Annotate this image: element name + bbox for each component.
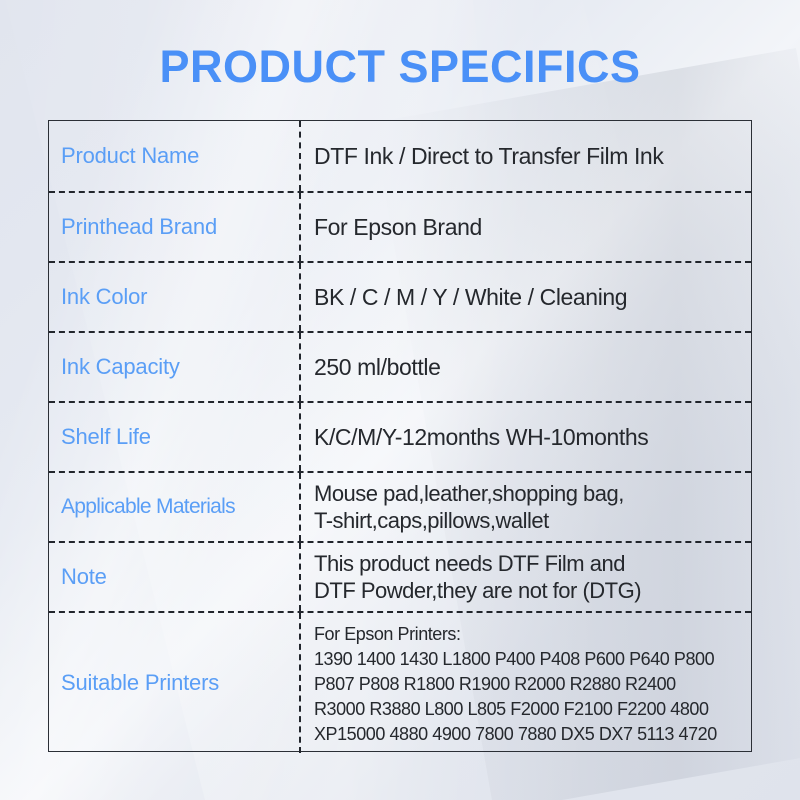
table-row: Ink Capacity 250 ml/bottle — [49, 331, 751, 401]
product-specifics-page: PRODUCT SPECIFICS Product Name DTF Ink /… — [0, 0, 800, 800]
spec-value-shelf-life: K/C/M/Y-12months WH-10months — [301, 403, 751, 471]
value-line: For Epson Printers: — [314, 622, 749, 647]
spec-label-shelf-life: Shelf Life — [49, 403, 301, 471]
spec-label-suitable-printers: Suitable Printers — [49, 613, 301, 753]
spec-value-applicable-materials: Mouse pad,leather,shopping bag, T-shirt,… — [301, 473, 751, 541]
value-line: K/C/M/Y-12months WH-10months — [314, 423, 749, 452]
spec-value-product-name: DTF Ink / Direct to Transfer Film Ink — [301, 121, 751, 191]
value-line: T-shirt,caps,pillows,wallet — [314, 507, 749, 534]
value-line: DTF Powder,they are not for (DTG) — [314, 577, 749, 604]
spec-label-applicable-materials: Applicable Materials — [49, 473, 301, 541]
value-line: XP15000 4880 4900 7800 7880 DX5 DX7 5113… — [314, 722, 749, 747]
specifications-table: Product Name DTF Ink / Direct to Transfe… — [48, 120, 752, 752]
table-row: Ink Color BK / C / M / Y / White / Clean… — [49, 261, 751, 331]
spec-label-product-name: Product Name — [49, 121, 301, 191]
page-title: PRODUCT SPECIFICS — [0, 40, 800, 94]
table-row: Shelf Life K/C/M/Y-12months WH-10months — [49, 401, 751, 471]
value-line: This product needs DTF Film and — [314, 550, 749, 577]
spec-label-ink-capacity: Ink Capacity — [49, 333, 301, 401]
table-row: Product Name DTF Ink / Direct to Transfe… — [49, 121, 751, 191]
spec-value-ink-capacity: 250 ml/bottle — [301, 333, 751, 401]
table-row: Printhead Brand For Epson Brand — [49, 191, 751, 261]
value-line: 250 ml/bottle — [314, 353, 749, 382]
spec-value-printhead-brand: For Epson Brand — [301, 193, 751, 261]
spec-label-ink-color: Ink Color — [49, 263, 301, 331]
value-line: BK / C / M / Y / White / Cleaning — [314, 283, 749, 312]
spec-value-ink-color: BK / C / M / Y / White / Cleaning — [301, 263, 751, 331]
value-line: P807 P808 R1800 R1900 R2000 R2880 R2400 — [314, 672, 749, 697]
spec-label-printhead-brand: Printhead Brand — [49, 193, 301, 261]
table-row: Suitable Printers For Epson Printers: 13… — [49, 611, 751, 753]
value-line: 1390 1400 1430 L1800 P400 P408 P600 P640… — [314, 647, 749, 672]
table-row: Applicable Materials Mouse pad,leather,s… — [49, 471, 751, 541]
value-line: DTF Ink / Direct to Transfer Film Ink — [314, 142, 749, 171]
value-line: For Epson Brand — [314, 213, 749, 242]
value-line: R3000 R3880 L800 L805 F2000 F2100 F2200 … — [314, 697, 749, 722]
spec-value-suitable-printers: For Epson Printers: 1390 1400 1430 L1800… — [301, 613, 751, 753]
value-line: Mouse pad,leather,shopping bag, — [314, 480, 749, 507]
spec-value-note: This product needs DTF Film and DTF Powd… — [301, 543, 751, 611]
table-row: Note This product needs DTF Film and DTF… — [49, 541, 751, 611]
spec-label-note: Note — [49, 543, 301, 611]
